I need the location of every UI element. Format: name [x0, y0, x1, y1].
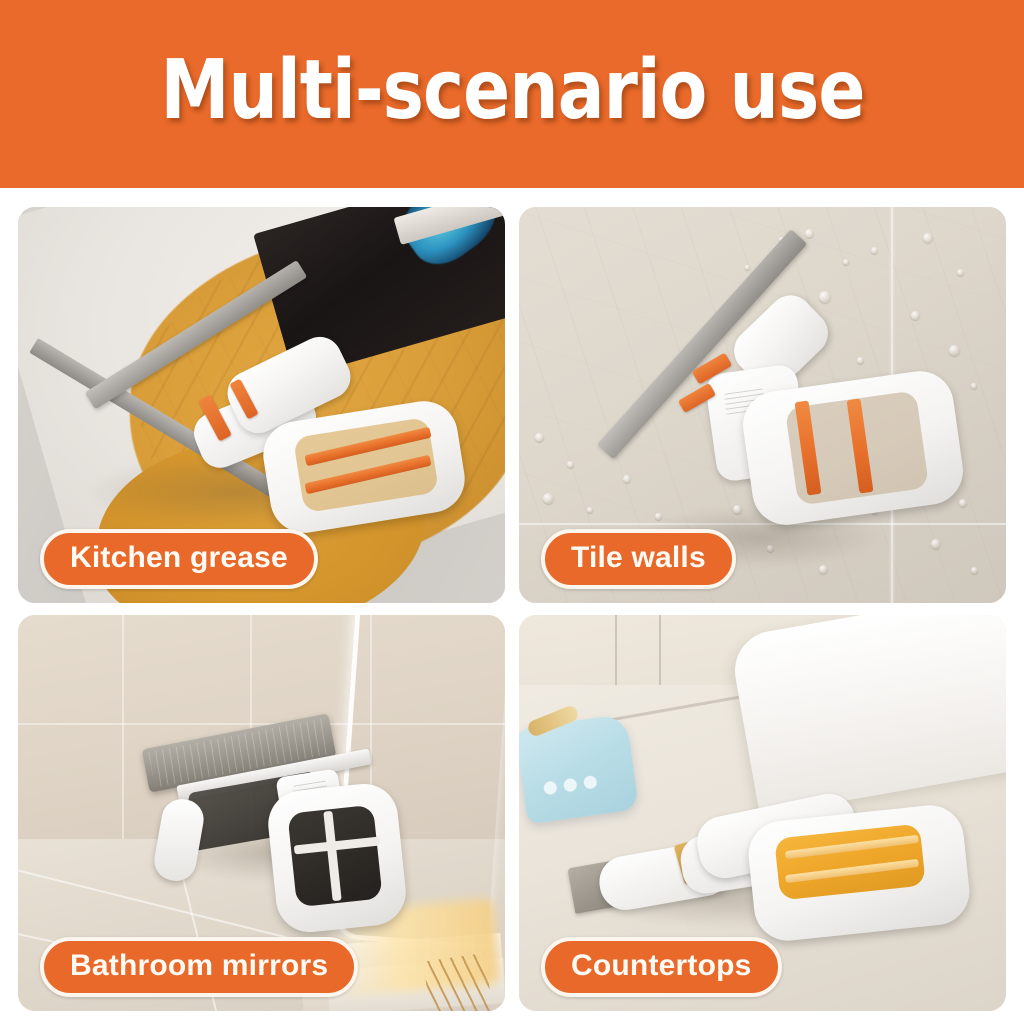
- grout-line-vertical: [122, 615, 124, 851]
- backsplash-seam: [615, 615, 617, 693]
- badge-label: Kitchen grease: [70, 541, 288, 575]
- backsplash-seam: [659, 615, 661, 693]
- reed-diffuser-sticks: [423, 953, 493, 1011]
- scenario-panel-tile-walls[interactable]: Tile walls: [519, 207, 1006, 603]
- badge-label: Countertops: [571, 949, 752, 983]
- header-banner: Multi-scenario use: [0, 0, 1024, 188]
- badge-label: Bathroom mirrors: [70, 949, 328, 983]
- product-mini-mop: [90, 317, 460, 527]
- scenario-panel-countertops[interactable]: Countertops: [519, 615, 1006, 1011]
- scenario-grid: Kitchen grease: [18, 207, 1006, 1007]
- infographic-page: Multi-scenario use: [0, 0, 1024, 1019]
- badge-countertops[interactable]: Countertops: [541, 937, 782, 997]
- product-mini-mop: [571, 747, 971, 947]
- product-mini-mop: [605, 251, 965, 551]
- badge-tile-walls[interactable]: Tile walls: [541, 529, 736, 589]
- product-mini-mop: [144, 713, 424, 933]
- scenario-panel-kitchen-grease[interactable]: Kitchen grease: [18, 207, 505, 603]
- scenario-panel-bathroom-mirrors[interactable]: Bathroom mirrors: [18, 615, 505, 1011]
- badge-kitchen-grease[interactable]: Kitchen grease: [40, 529, 318, 589]
- badge-label: Tile walls: [571, 541, 706, 575]
- mop-leg: [151, 796, 207, 884]
- page-title: Multi-scenario use: [160, 50, 864, 138]
- badge-bathroom-mirrors[interactable]: Bathroom mirrors: [40, 937, 358, 997]
